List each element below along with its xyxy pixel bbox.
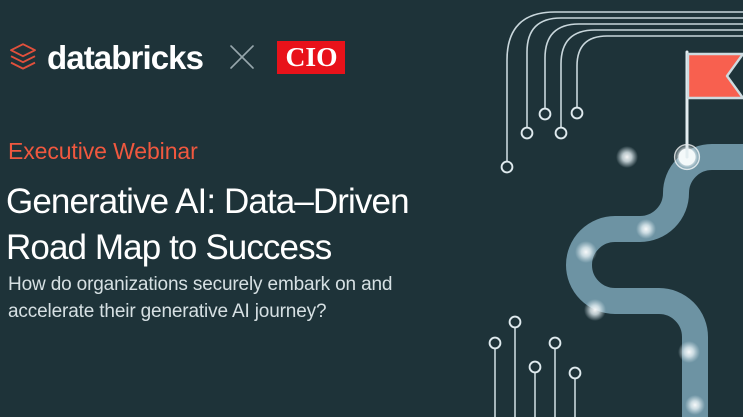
eyebrow-label: Executive Webinar bbox=[8, 139, 198, 164]
road-waypoints bbox=[575, 144, 705, 415]
bottom-circuit-traces bbox=[495, 327, 575, 417]
webinar-promo-banner: databricks CIO Executive Webinar Generat… bbox=[0, 0, 743, 417]
destination-flag bbox=[687, 52, 743, 157]
cio-logo[interactable]: CIO bbox=[277, 41, 345, 74]
headline-line-1: Generative AI: Data–Driven bbox=[6, 182, 409, 221]
winding-road-path bbox=[579, 157, 743, 417]
bottom-circuit-endpoints bbox=[490, 317, 581, 379]
databricks-logo[interactable]: databricks bbox=[8, 41, 203, 74]
logo-lockup-row: databricks CIO bbox=[8, 32, 345, 82]
page-title: Generative AI: Data–Driven Road Map to S… bbox=[6, 179, 409, 271]
cross-separator-icon bbox=[229, 44, 255, 70]
cio-logo-text: CIO bbox=[285, 44, 337, 71]
subhead-line-1: How do organizations securely embark on … bbox=[8, 274, 392, 295]
databricks-layers-icon bbox=[8, 41, 38, 73]
subtitle: How do organizations securely embark on … bbox=[8, 272, 392, 326]
headline-line-2: Road Map to Success bbox=[6, 225, 409, 271]
databricks-wordmark: databricks bbox=[47, 41, 203, 74]
road-map-artwork bbox=[487, 0, 743, 417]
top-circuit-traces bbox=[507, 12, 743, 165]
top-circuit-endpoints bbox=[502, 108, 583, 173]
subhead-line-2: accelerate their generative AI journey? bbox=[8, 299, 392, 326]
